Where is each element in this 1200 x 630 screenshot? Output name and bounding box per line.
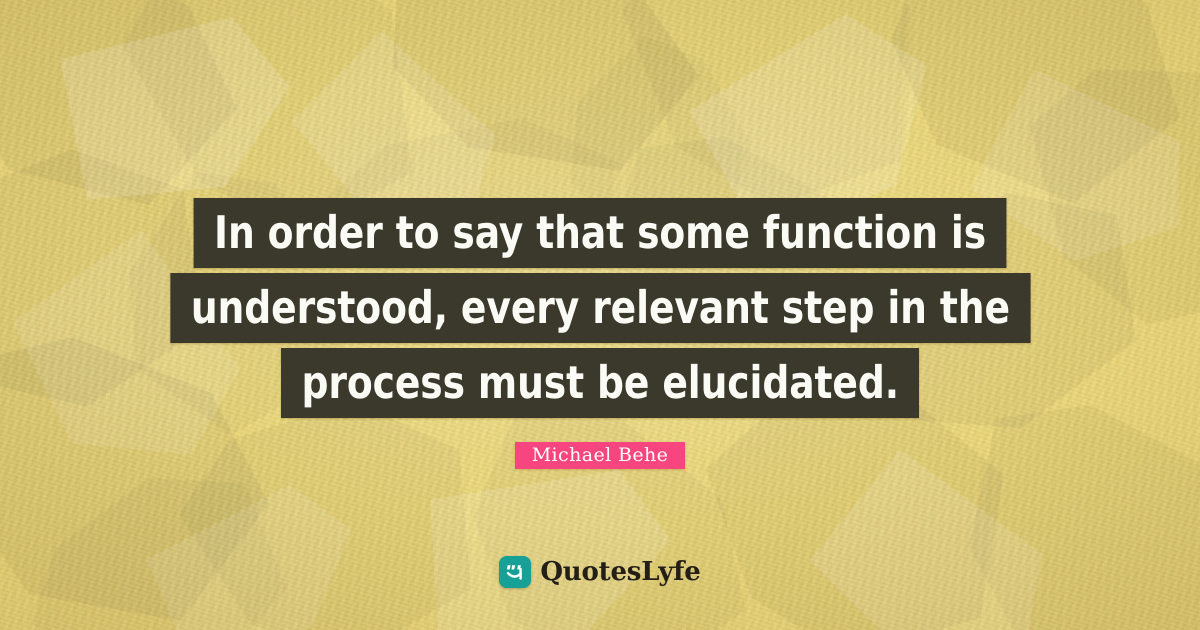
brand-name: QuotesLyfe — [540, 556, 700, 588]
quote-text-block: In order to say that some function is un… — [138, 198, 1063, 418]
quote-line: In order to say that some function is — [194, 198, 1007, 268]
quote-card: In order to say that some function is un… — [0, 0, 1200, 630]
quote-line: understood, every relevant step in the — [170, 273, 1030, 343]
brand-logo[interactable]: QuotesLyfe — [0, 556, 1200, 588]
quote-smiley-icon — [499, 556, 531, 588]
quote-line: process must be elucidated. — [281, 348, 919, 418]
author-badge: Michael Behe — [515, 442, 686, 469]
